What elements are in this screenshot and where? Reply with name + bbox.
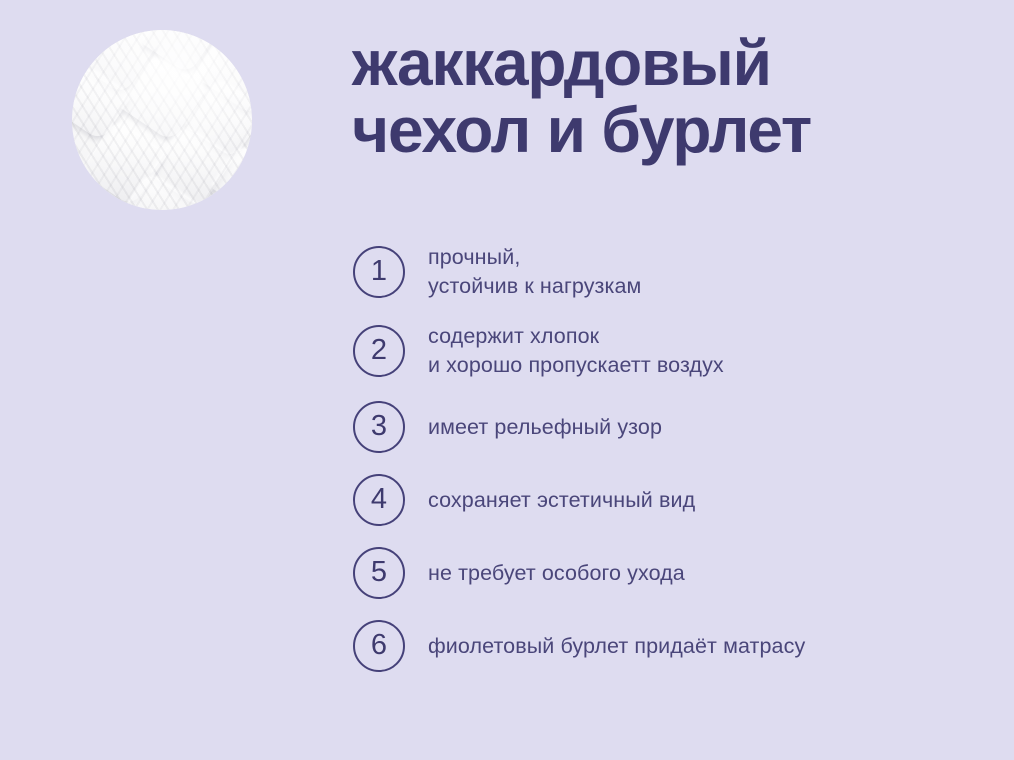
feature-number-badge: 3: [353, 401, 405, 453]
page-title-line-2: чехол и бурлет: [352, 98, 1002, 163]
feature-number-badge: 5: [353, 547, 405, 599]
feature-number-badge: 4: [353, 474, 405, 526]
feature-label: фиолетовый бурлет придаёт матрасу: [428, 632, 805, 661]
list-item: 2 содержит хлопок и хорошо пропускаетт в…: [353, 322, 973, 380]
feature-label: прочный, устойчив к нагрузкам: [428, 243, 641, 301]
feature-number-badge: 2: [353, 325, 405, 377]
list-item: 1 прочный, устойчив к нагрузкам: [353, 243, 973, 301]
fabric-texture: [72, 30, 252, 210]
feature-label: не требует особого ухода: [428, 559, 685, 588]
list-item: 4 сохраняет эстетичный вид: [353, 474, 973, 526]
list-item: 6 фиолетовый бурлет придаёт матрасу: [353, 620, 973, 672]
list-item: 3 имеет рельефный узор: [353, 401, 973, 453]
slide-canvas: жаккардовый чехол и бурлет 1 прочный, ус…: [0, 0, 1014, 760]
page-title-line-1: жаккардовый: [352, 31, 1002, 96]
feature-number-badge: 1: [353, 246, 405, 298]
fabric-photo-circle: [72, 30, 252, 210]
feature-label: имеет рельефный узор: [428, 413, 662, 442]
quilt-star-pattern: [72, 30, 252, 210]
list-item: 5 не требует особого ухода: [353, 547, 973, 599]
feature-label: сохраняет эстетичный вид: [428, 486, 695, 515]
feature-number-badge: 6: [353, 620, 405, 672]
page-title: жаккардовый чехол и бурлет: [352, 31, 1002, 164]
stitch-seams: [72, 30, 252, 210]
feature-list: 1 прочный, устойчив к нагрузкам 2 содерж…: [353, 243, 973, 672]
feature-label: содержит хлопок и хорошо пропускаетт воз…: [428, 322, 724, 380]
